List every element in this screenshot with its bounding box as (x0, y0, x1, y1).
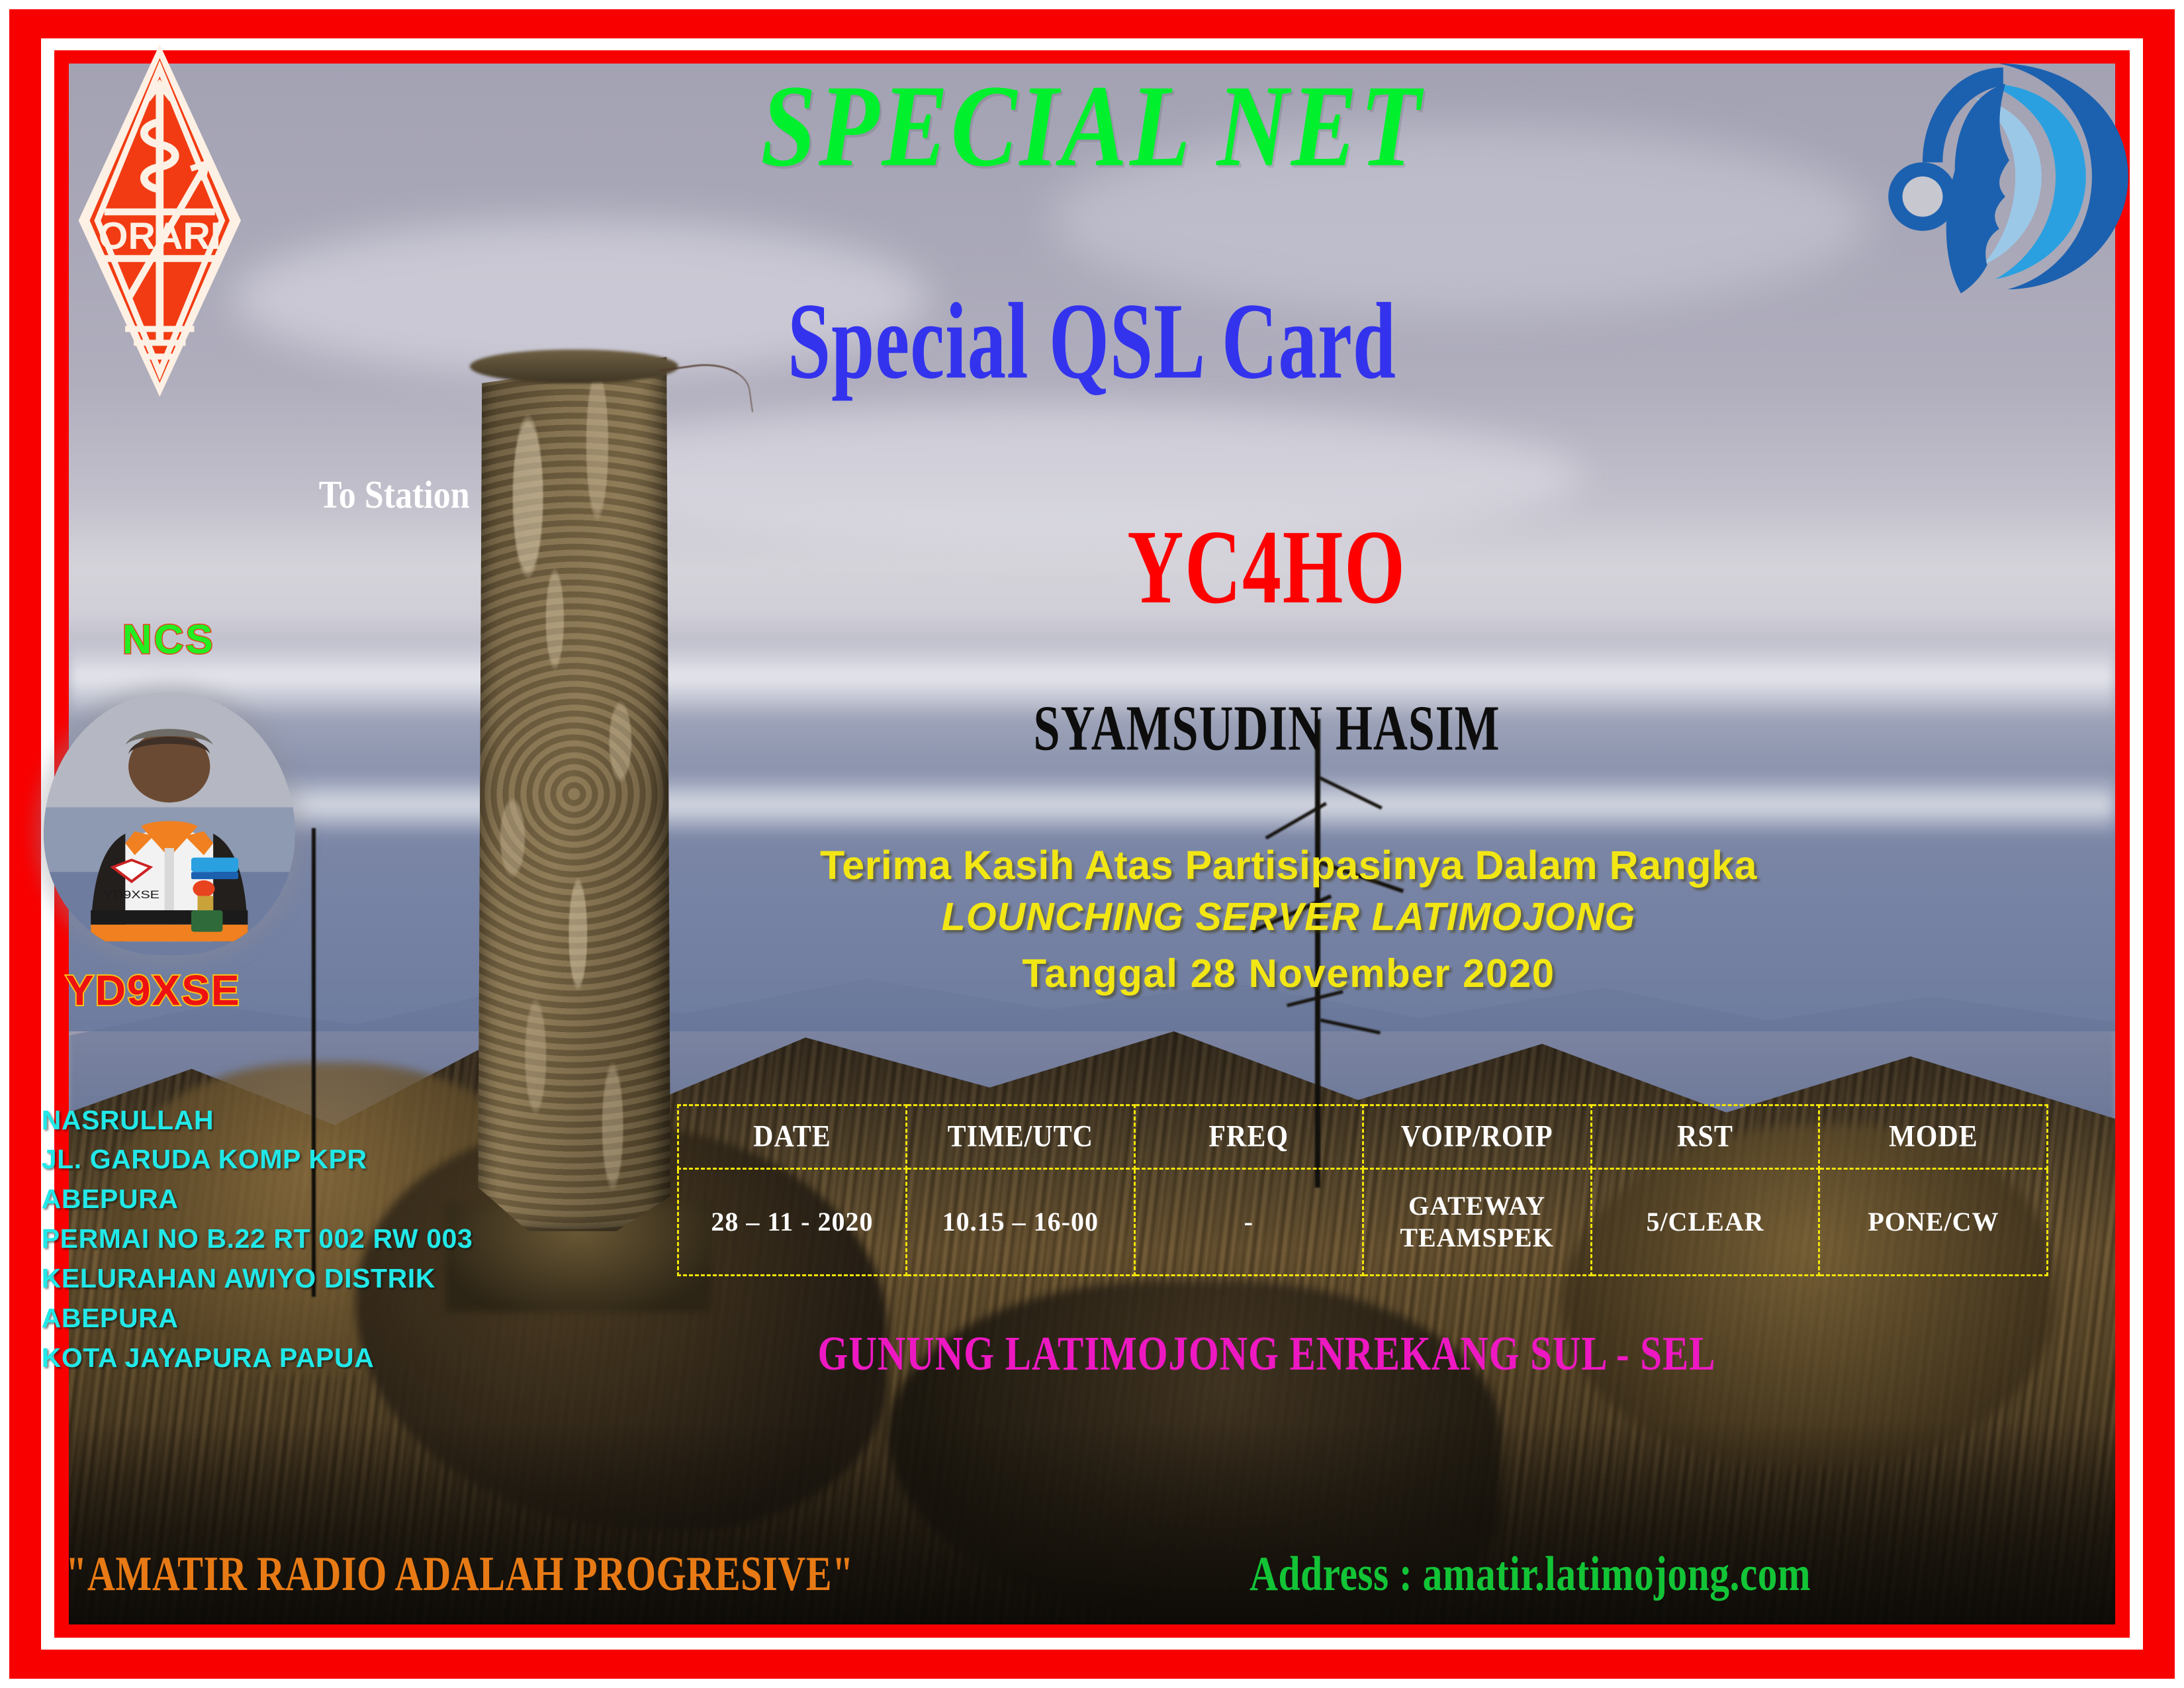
page-title-special-net: SPECIAL NET (0, 68, 2184, 185)
cell-freq: - (1134, 1168, 1363, 1275)
thanks-line-2: LOUNCHING SERVER LATIMOJONG (655, 897, 1922, 938)
thanks-line-3: Tanggal 28 November 2020 (655, 953, 1922, 994)
column-header-mode: MODE (1819, 1102, 2048, 1172)
cell-voip-roip: GATEWAYTEAMSPEK (1363, 1168, 1591, 1275)
address-line: JL. GARUDA KOMP KPR (42, 1140, 473, 1180)
ncs-callsign: YD9XSE (66, 966, 241, 1015)
table-header-row: DATE TIME/UTC FREQ VOIP/ROIP RST MODE (678, 1105, 2048, 1168)
ncs-label: NCS (122, 616, 215, 663)
orari-logo-text: ORARI (98, 215, 220, 258)
location-text: GUNUNG LATIMOJONG ENREKANG SUL - SEL (645, 1327, 1889, 1382)
column-header-rst: RST (1591, 1102, 1819, 1172)
cell-mode: PONE/CW (1819, 1168, 2048, 1275)
address-line: KELURAHAN AWIYO DISTRIK (42, 1259, 473, 1299)
qsl-card: ORARI SPECIAL NET Special QSL Card To St… (0, 0, 2184, 1688)
cell-rst: 5/CLEAR (1591, 1168, 1819, 1275)
address-line: NASRULLAH (42, 1101, 473, 1141)
svg-text:YD9XSE: YD9XSE (104, 889, 159, 901)
qso-table: DATE TIME/UTC FREQ VOIP/ROIP RST MODE 28… (677, 1104, 2048, 1276)
address-line: ABEPURA (42, 1180, 473, 1219)
footer-website-address: Address : amatir.latimojong.com (1250, 1546, 1811, 1603)
address-line: PERMAI NO B.22 RT 002 RW 003 (42, 1219, 473, 1259)
column-header-freq: FREQ (1134, 1102, 1363, 1172)
operator-name: SYAMSUDIN HASIM (716, 692, 1817, 766)
ncs-operator-photo: YD9XSE (44, 692, 295, 956)
thanks-message: Terima Kasih Atas Partisipasinya Dalam R… (655, 844, 1922, 994)
thanks-line-1: Terima Kasih Atas Partisipasinya Dalam R… (655, 844, 1922, 886)
station-callsign: YC4HO (745, 506, 1790, 628)
cell-date: 28 – 11 - 2020 (678, 1168, 907, 1275)
address-line: ABEPURA (42, 1299, 473, 1338)
column-header-time-utc: TIME/UTC (906, 1102, 1134, 1172)
address-block: NASRULLAH JL. GARUDA KOMP KPR ABEPURA PE… (42, 1101, 473, 1378)
column-header-voip-roip: VOIP/ROIP (1363, 1102, 1591, 1172)
to-station-label: To Station (319, 473, 470, 518)
page-subtitle-qsl-card: Special QSL Card (44, 287, 2140, 397)
column-header-date: DATE (678, 1102, 907, 1172)
address-line: KOTA JAYAPURA PAPUA (42, 1338, 473, 1378)
table-row: 28 – 11 - 2020 10.15 – 16-00 - GATEWAYTE… (678, 1168, 2048, 1275)
cell-time-utc: 10.15 – 16-00 (906, 1168, 1134, 1275)
footer-slogan: "AMATIR RADIO ADALAH PROGRESIVE" (66, 1546, 854, 1603)
